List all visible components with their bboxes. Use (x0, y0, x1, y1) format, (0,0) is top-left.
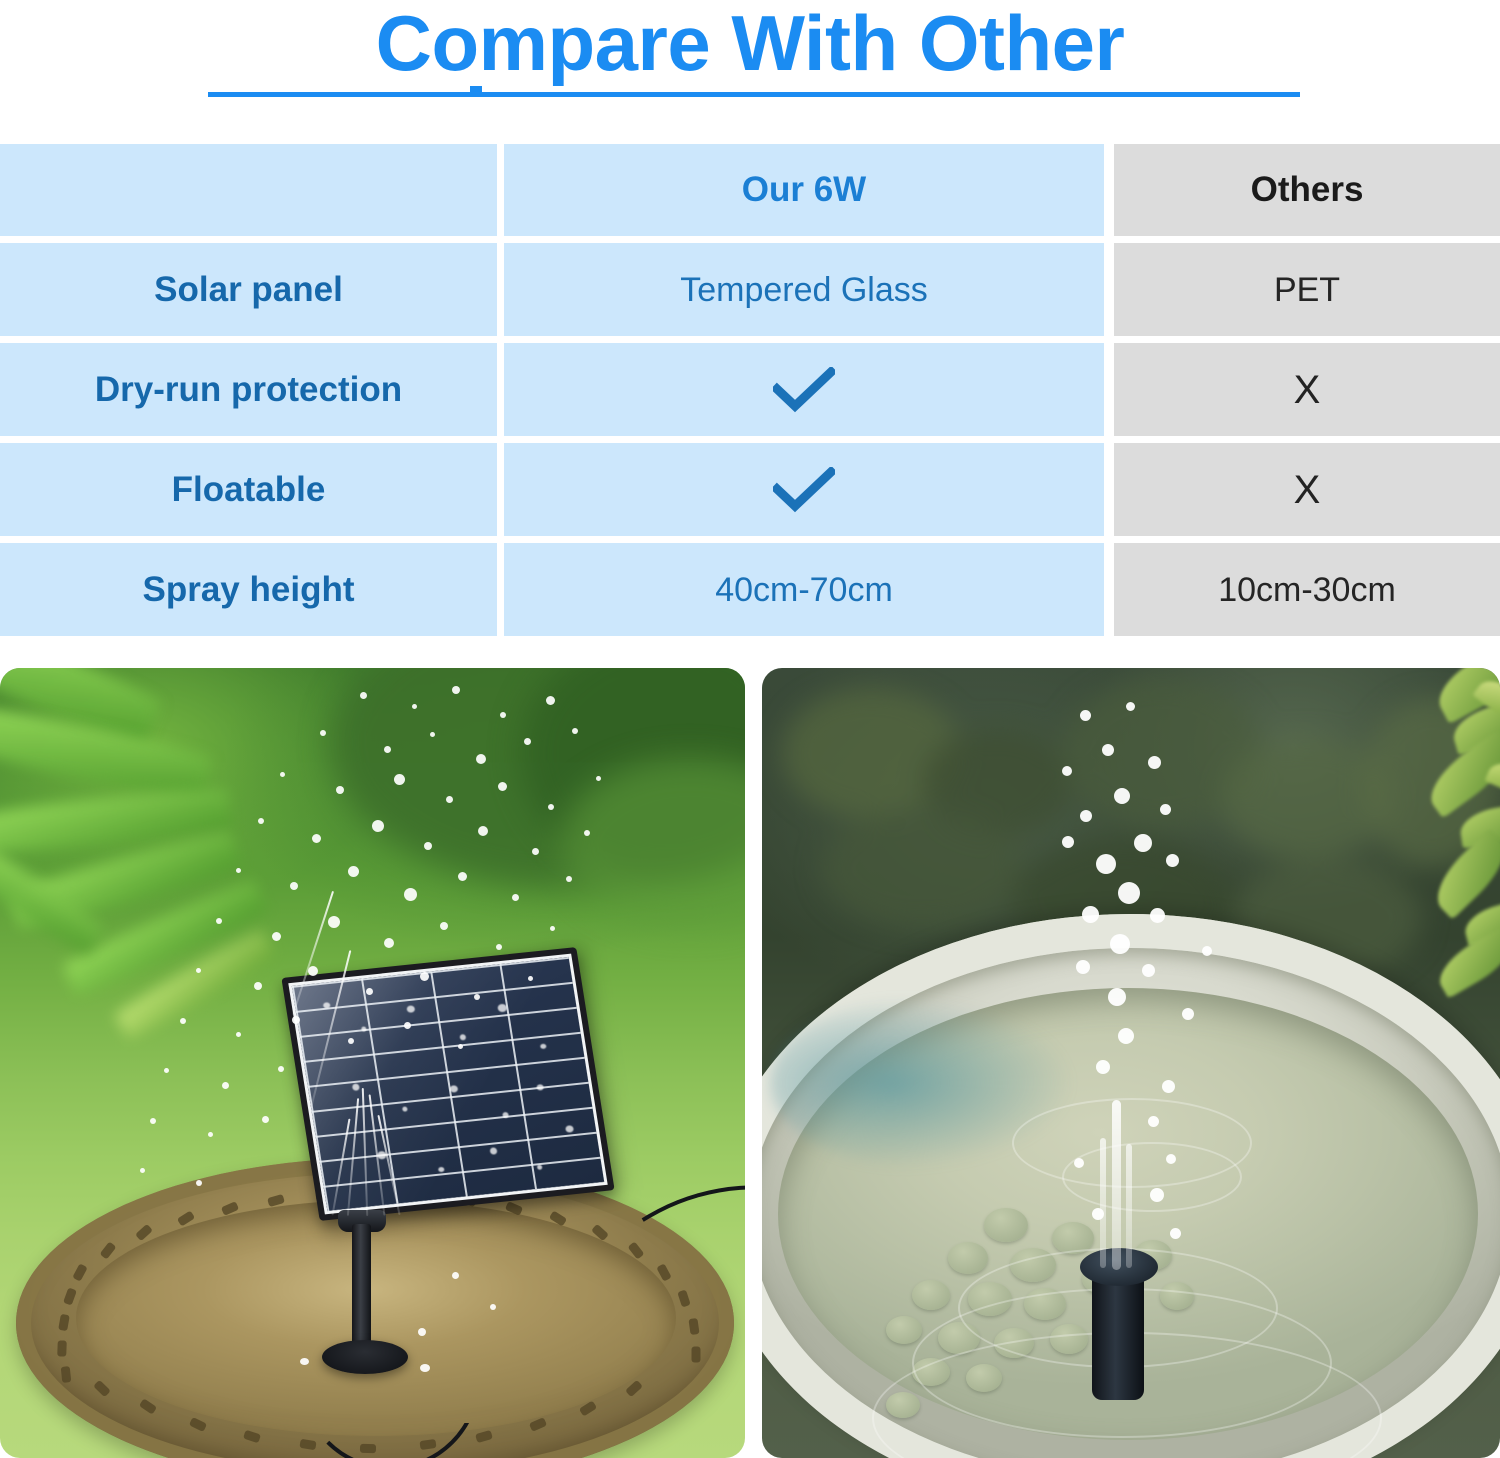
water-droplet (328, 916, 340, 928)
water-droplet (384, 746, 391, 753)
water-droplet (222, 1082, 229, 1089)
water-droplet (216, 918, 222, 924)
row-label-cell: Solar panel (0, 243, 497, 336)
water-droplet (500, 712, 506, 718)
rim-notch (61, 1366, 72, 1383)
water-droplet (440, 922, 448, 930)
water-droplet (236, 868, 241, 873)
water-droplet (420, 1364, 430, 1372)
water-droplet (278, 1066, 284, 1072)
water-droplet (1062, 766, 1072, 776)
row-others-cell: X (1114, 443, 1500, 536)
water-droplet (394, 774, 405, 785)
relief-bump (948, 1242, 988, 1274)
water-droplet (478, 826, 488, 836)
water-droplet (524, 738, 531, 745)
water-droplet (196, 1180, 202, 1186)
pump-stem (352, 1224, 371, 1354)
water-droplet (424, 842, 432, 850)
water-droplet (490, 1304, 496, 1310)
table-header-row: Our 6W Others (0, 144, 1500, 236)
water-droplet (1148, 756, 1161, 769)
comparison-table: Our 6W Others Solar panel Tempered Glass… (0, 144, 1500, 636)
row-ours-cell: 40cm-70cm (504, 543, 1104, 636)
water-droplet (366, 988, 373, 995)
comparison-infographic: Compare With Other Our 6W Others Solar p… (0, 0, 1500, 1458)
photo-gallery (0, 668, 1500, 1458)
water-jet (1126, 1144, 1132, 1268)
relief-bump (912, 1280, 950, 1310)
water-droplet (1118, 1028, 1134, 1044)
row-others-cell: 10cm-30cm (1114, 543, 1500, 636)
row-label-cell: Dry-run protection (0, 343, 497, 436)
header-cell-feature (0, 144, 497, 236)
water-droplet (196, 968, 201, 973)
water-droplet (1202, 946, 1212, 956)
water-ripple (1062, 1142, 1242, 1212)
water-droplet (1074, 1158, 1084, 1168)
pump-body (1092, 1268, 1144, 1400)
water-droplet (452, 686, 460, 694)
water-droplet (1096, 854, 1116, 874)
water-droplet (262, 1116, 269, 1123)
water-droplet (1062, 836, 1074, 848)
water-droplet (1118, 882, 1140, 904)
water-droplet (420, 972, 429, 981)
water-droplet (180, 1018, 186, 1024)
row-others-cell: PET (1114, 243, 1500, 336)
water-droplet (548, 804, 554, 810)
water-droplet (412, 704, 417, 709)
water-droplet (1082, 906, 1099, 923)
water-droplet (584, 830, 590, 836)
relief-bump (886, 1316, 922, 1344)
water-droplet (140, 1168, 145, 1173)
water-droplet (1166, 1154, 1176, 1164)
water-droplet (312, 834, 321, 843)
our-6w-fountain-photo (0, 668, 745, 1458)
row-label-cell: Spray height (0, 543, 497, 636)
other-fountain-photo (762, 668, 1500, 1458)
pump-base (322, 1340, 408, 1374)
relief-bump (984, 1208, 1028, 1242)
water-droplet (258, 818, 264, 824)
water-droplet (280, 772, 285, 777)
water-droplet (336, 786, 344, 794)
ours-value: 40cm-70cm (715, 571, 893, 609)
water-droplet (566, 876, 572, 882)
feature-label: Floatable (172, 471, 326, 509)
water-droplet (1114, 788, 1130, 804)
water-droplet (528, 976, 533, 981)
row-others-cell: X (1114, 343, 1500, 436)
water-jet (1100, 1138, 1106, 1268)
feature-label: Dry-run protection (95, 371, 402, 409)
ours-value: Tempered Glass (680, 271, 928, 309)
water-droplet (498, 782, 507, 791)
water-droplet (1080, 710, 1091, 721)
water-droplet (1096, 1060, 1110, 1074)
water-droplet (360, 692, 367, 699)
solar-panel-face (288, 954, 607, 1215)
water-droplet (150, 1118, 156, 1124)
water-droplet (254, 982, 262, 990)
feature-label: Spray height (143, 571, 355, 609)
water-droplet (1166, 854, 1179, 867)
header-cell-others: Others (1114, 144, 1500, 236)
rim-notch (57, 1340, 67, 1356)
water-droplet (1182, 1008, 1194, 1020)
water-droplet (546, 696, 555, 705)
x-icon: X (1294, 371, 1321, 409)
water-droplet (476, 754, 486, 764)
row-ours-cell (504, 343, 1104, 436)
row-ours-cell (504, 443, 1104, 536)
water-droplet (1150, 1188, 1164, 1202)
water-droplet (348, 866, 359, 877)
feature-label: Solar panel (154, 271, 343, 309)
check-icon (504, 367, 1104, 413)
water-droplet (290, 882, 298, 890)
water-droplet (272, 932, 281, 941)
water-droplet (1142, 964, 1155, 977)
header-ours-label: Our 6W (742, 171, 866, 209)
water-droplet (532, 848, 539, 855)
page-title: Compare With Other (0, 0, 1500, 91)
water-droplet (1080, 810, 1092, 822)
title-block: Compare With Other (0, 0, 1500, 120)
water-droplet (1150, 908, 1165, 923)
title-underline-tick (470, 86, 482, 97)
water-droplet (512, 894, 519, 901)
water-droplet (1134, 834, 1152, 852)
water-droplet (1126, 702, 1135, 711)
table-row: Dry-run protection X (0, 343, 1500, 436)
others-value: 10cm-30cm (1218, 571, 1396, 609)
water-droplet (458, 1044, 463, 1049)
row-label-cell: Floatable (0, 443, 497, 536)
water-droplet (372, 820, 384, 832)
water-droplet (1076, 960, 1090, 974)
water-droplet (452, 1272, 459, 1279)
water-droplet (1160, 804, 1171, 815)
header-cell-ours: Our 6W (504, 144, 1104, 236)
check-icon (504, 467, 1104, 513)
solar-panel (281, 947, 614, 1221)
water-droplet (1102, 744, 1114, 756)
water-droplet (1108, 988, 1126, 1006)
water-jet (1112, 1100, 1121, 1270)
water-droplet (446, 796, 453, 803)
water-droplet (300, 1358, 309, 1365)
water-droplet (348, 1038, 354, 1044)
water-droplet (430, 732, 435, 737)
water-droplet (474, 994, 480, 1000)
water-droplet (208, 1132, 213, 1137)
water-droplet (596, 776, 601, 781)
water-droplet (236, 1032, 241, 1037)
table-row: Spray height 40cm-70cm 10cm-30cm (0, 543, 1500, 636)
water-droplet (418, 1328, 426, 1336)
water-droplet (308, 966, 318, 976)
table-row: Floatable X (0, 443, 1500, 536)
table-row: Solar panel Tempered Glass PET (0, 243, 1500, 336)
title-underline-rule (208, 92, 1300, 97)
water-droplet (458, 872, 467, 881)
water-droplet (292, 1016, 300, 1024)
water-droplet (1170, 1228, 1181, 1239)
water-droplet (1148, 1116, 1159, 1127)
others-value: PET (1274, 271, 1340, 309)
water-droplet (320, 730, 326, 736)
water-droplet (572, 728, 578, 734)
water-droplet (496, 944, 502, 950)
water-droplet (1110, 934, 1130, 954)
water-droplet (550, 926, 555, 931)
header-others-label: Others (1251, 171, 1364, 209)
x-icon: X (1294, 471, 1321, 509)
foliage-blob (822, 808, 1022, 928)
water-droplet (1162, 1080, 1175, 1093)
water-droplet (1092, 1208, 1104, 1220)
water-droplet (164, 1068, 169, 1073)
water-droplet (384, 938, 394, 948)
row-ours-cell: Tempered Glass (504, 243, 1104, 336)
water-droplet (404, 1022, 411, 1029)
water-droplet (404, 888, 417, 901)
